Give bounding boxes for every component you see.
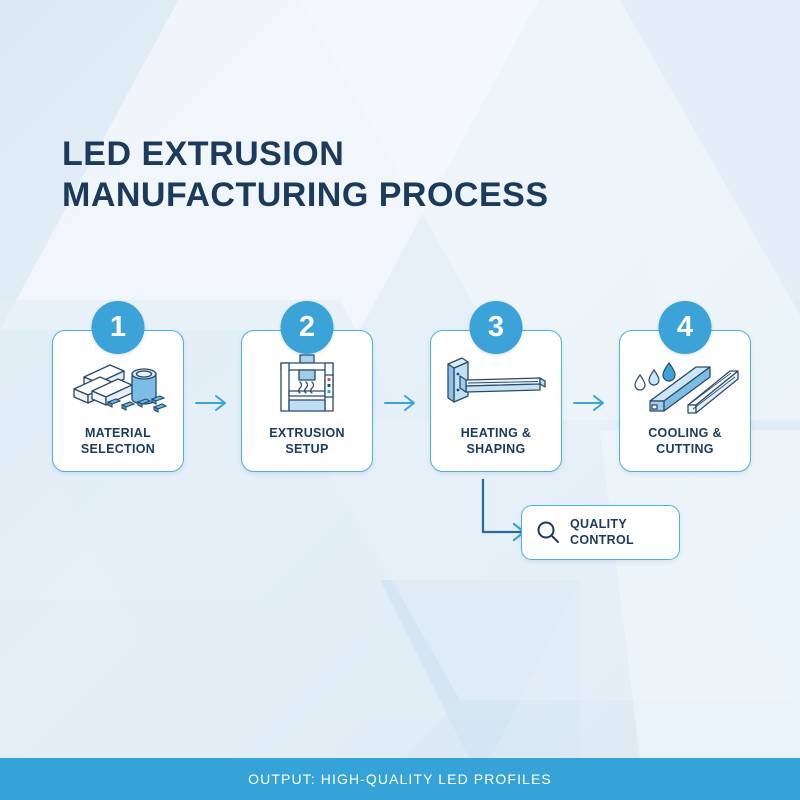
step-label-line-2: SELECTION [81,442,155,456]
process-steps: 1 [52,330,752,482]
die-profile-icon [431,353,561,415]
arrow-right-icon [190,392,234,414]
step-label-line-2: SETUP [285,442,328,456]
step-card-heating-shaping[interactable]: 3 HEATING [430,330,562,472]
footer-bar: OUTPUT: HIGH-QUALITY LED PROFILES [0,758,800,800]
step-number-badge-4: 4 [659,301,712,354]
step-label-line-1: COOLING & [648,426,722,440]
step-number-1: 1 [110,313,126,342]
step-card-extrusion-setup[interactable]: 2 [241,330,373,472]
step-label-heating-shaping: HEATING & SHAPING [435,425,557,457]
step-number-badge-1: 1 [92,301,145,354]
arrow-right-icon [379,392,423,414]
step-label-extrusion-setup: EXTRUSION SETUP [246,425,368,457]
qc-label-line-1: QUALITY [570,517,627,531]
page-title-line-2: MANUFACTURING PROCESS [62,175,549,216]
page-title: LED EXTRUSION MANUFACTURING PROCESS [62,134,549,217]
step-label-material-selection: MATERIAL SELECTION [57,425,179,457]
magnifier-icon [535,519,562,546]
step-label-line-2: SHAPING [466,442,525,456]
page-title-line-1: LED EXTRUSION [62,134,549,175]
quality-control-box[interactable]: QUALITY CONTROL [521,505,680,560]
qc-label-line-2: CONTROL [570,533,634,547]
arrow-right-icon [568,392,612,414]
metal-billets-icon [53,353,183,415]
quality-control-label: QUALITY CONTROL [570,517,634,548]
step-label-line-1: MATERIAL [85,426,151,440]
footer-text: OUTPUT: HIGH-QUALITY LED PROFILES [248,771,552,787]
step-number-2: 2 [299,313,315,342]
step-card-cooling-cutting[interactable]: 4 [619,330,751,472]
step-label-line-1: EXTRUSION [269,426,345,440]
step-card-material-selection[interactable]: 1 [52,330,184,472]
step-label-line-2: CUTTING [656,442,714,456]
step-number-3: 3 [488,313,504,342]
step-label-line-1: HEATING & [461,426,532,440]
step-number-badge-2: 2 [281,301,334,354]
step-label-cooling-cutting: COOLING & CUTTING [624,425,746,457]
water-droplets-profiles-icon [620,353,750,415]
step-number-4: 4 [677,313,693,342]
step-number-badge-3: 3 [470,301,523,354]
extrusion-press-icon [242,353,372,415]
